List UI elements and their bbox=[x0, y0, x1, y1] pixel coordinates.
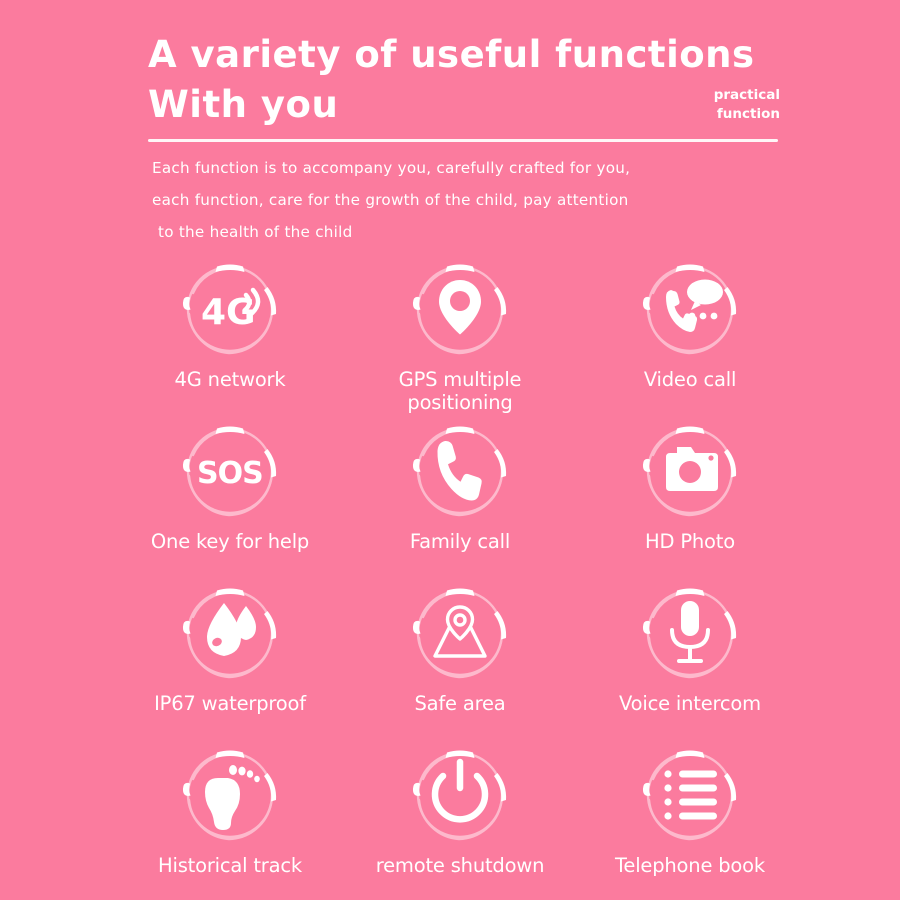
list-icon bbox=[664, 770, 717, 819]
intro-paragraph: Each function is to accompany you, caref… bbox=[152, 152, 792, 248]
feature-item[interactable]: Voice intercom bbox=[575, 576, 805, 738]
kicker-line1: practical bbox=[650, 86, 780, 105]
feature-label: Family call bbox=[350, 530, 570, 554]
intro-line-3: to the health of the child bbox=[152, 216, 792, 248]
safe-area-icon bbox=[435, 607, 485, 656]
svg-text:SOS: SOS bbox=[197, 456, 263, 491]
watch-frame bbox=[631, 576, 749, 688]
feature-label: Voice intercom bbox=[580, 692, 800, 716]
header-divider bbox=[148, 139, 778, 142]
feature-label: Safe area bbox=[350, 692, 570, 716]
feature-item[interactable]: SOS One key for help bbox=[115, 414, 345, 576]
watch-frame bbox=[401, 738, 519, 850]
feature-item[interactable]: Family call bbox=[345, 414, 575, 576]
page-title-line1: A variety of useful functions bbox=[148, 30, 780, 80]
feature-label: One key for help bbox=[120, 530, 340, 554]
feature-label: Video call bbox=[580, 368, 800, 392]
feature-item[interactable]: Historical track bbox=[115, 738, 345, 900]
feature-label: IP67 waterproof bbox=[120, 692, 340, 716]
feature-label: GPS multiple positioning bbox=[350, 368, 570, 414]
feature-item[interactable]: remote shutdown bbox=[345, 738, 575, 900]
phone-handset-icon bbox=[437, 441, 481, 501]
feature-label-line2: positioning bbox=[407, 391, 512, 414]
intro-line-1: Each function is to accompany you, caref… bbox=[152, 152, 792, 184]
feature-grid: 4G 4G network bbox=[115, 252, 805, 900]
watch-frame bbox=[631, 252, 749, 364]
feature-item[interactable]: Telephone book bbox=[575, 738, 805, 900]
feature-item[interactable]: HD Photo bbox=[575, 414, 805, 576]
feature-label: HD Photo bbox=[580, 530, 800, 554]
feature-item[interactable]: IP67 waterproof bbox=[115, 576, 345, 738]
kicker-label: practical function bbox=[650, 86, 780, 124]
microphone-icon bbox=[672, 601, 708, 661]
feature-label: Telephone book bbox=[580, 854, 800, 878]
watch-frame bbox=[401, 414, 519, 526]
feature-item[interactable]: GPS multiple positioning bbox=[345, 252, 575, 414]
gps-pin-icon bbox=[439, 280, 481, 335]
feature-item[interactable]: 4G 4G network bbox=[115, 252, 345, 414]
power-icon bbox=[435, 762, 485, 819]
watch-frame: 4G bbox=[171, 252, 289, 364]
feature-label-line1: GPS multiple bbox=[399, 368, 522, 391]
feature-poster: A variety of useful functions With you p… bbox=[0, 0, 900, 900]
kicker-line2: function bbox=[650, 105, 780, 124]
title-block: A variety of useful functions With you p… bbox=[148, 30, 780, 130]
water-drop-icon bbox=[207, 603, 256, 656]
watch-frame bbox=[171, 738, 289, 850]
watch-frame bbox=[631, 414, 749, 526]
watch-frame bbox=[401, 576, 519, 688]
feature-label: 4G network bbox=[120, 368, 340, 392]
intro-line-2: each function, care for the growth of th… bbox=[152, 184, 792, 216]
video-call-icon bbox=[666, 280, 723, 333]
watch-frame bbox=[171, 576, 289, 688]
watch-frame bbox=[631, 738, 749, 850]
feature-label: Historical track bbox=[120, 854, 340, 878]
header: A variety of useful functions With you p… bbox=[148, 30, 780, 130]
sos-icon: SOS bbox=[197, 456, 263, 491]
feature-item[interactable]: Video call bbox=[575, 252, 805, 414]
watch-frame: SOS bbox=[171, 414, 289, 526]
4g-network-icon: 4G bbox=[201, 290, 258, 333]
watch-frame bbox=[401, 252, 519, 364]
camera-icon bbox=[666, 447, 718, 491]
feature-label: remote shutdown bbox=[350, 854, 570, 878]
footprint-icon bbox=[205, 765, 260, 830]
feature-item[interactable]: Safe area bbox=[345, 576, 575, 738]
